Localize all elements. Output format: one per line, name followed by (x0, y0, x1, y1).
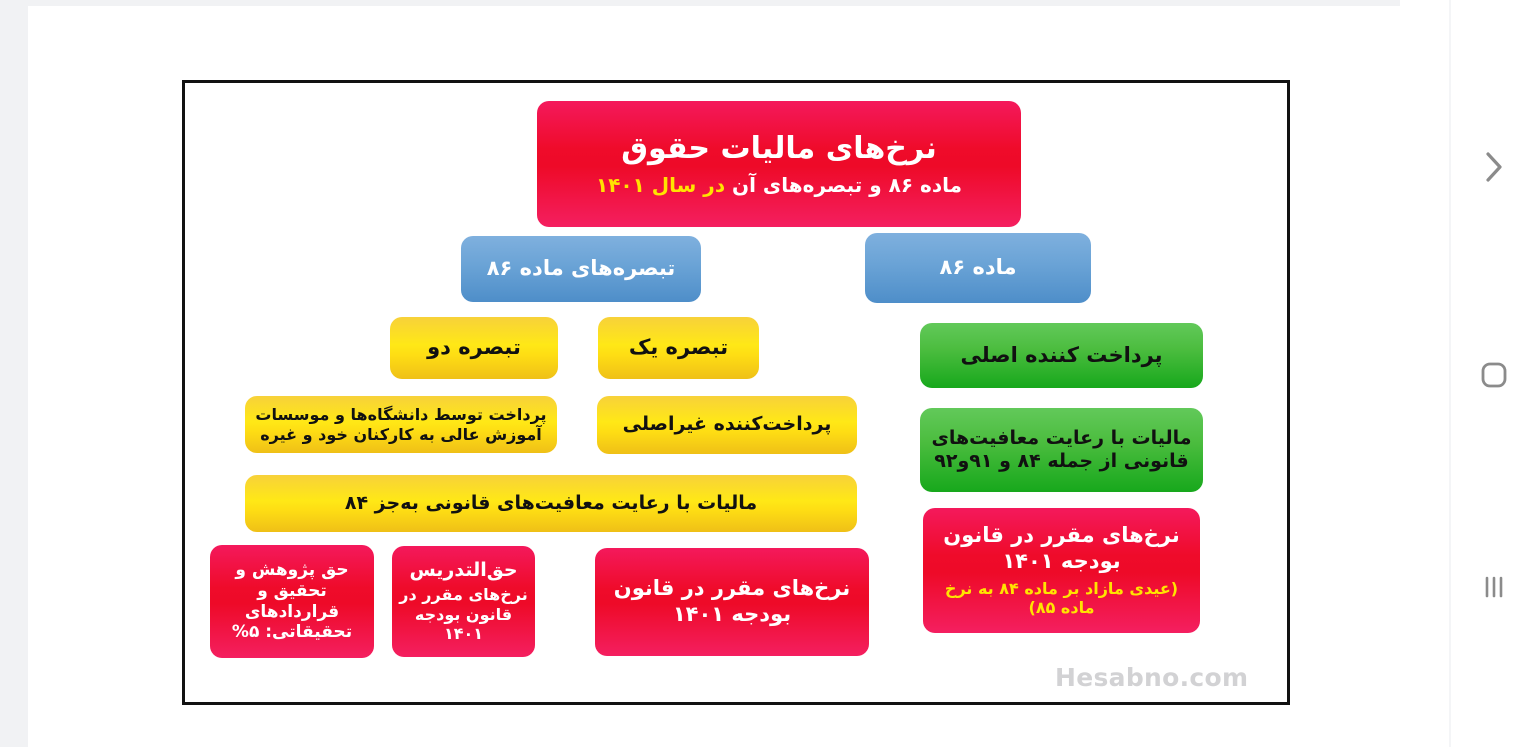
diagram-title-line2-main: ماده ۸۶ و تبصره‌های آن (725, 173, 962, 197)
left-gutter (0, 0, 28, 747)
node-budget-right-note: (عیدی مازاد بر ماده ۸۴ به نرخ ماده ۸۵) (931, 579, 1192, 618)
node-made86: ماده ۸۶ (865, 233, 1091, 303)
node-budget-law-rates-right: نرخ‌های مقرر در قانون بودجه ۱۴۰۱ (عیدی م… (923, 508, 1200, 633)
diagram-title-line2: ماده ۸۶ و تبصره‌های آن در سال ۱۴۰۱ (596, 173, 962, 197)
diagram-frame: نرخ‌های مالیات حقوق ماده ۸۶ و تبصره‌های … (182, 80, 1290, 705)
diagram-title-line1: نرخ‌های مالیات حقوق (621, 131, 937, 168)
chevron-right-icon[interactable] (1452, 140, 1536, 194)
screen: نرخ‌های مالیات حقوق ماده ۸۶ و تبصره‌های … (0, 0, 1536, 747)
node-teaching-fee-title: حق‌التدریس (409, 559, 517, 582)
diagram-title-box: نرخ‌های مالیات حقوق ماده ۸۶ و تبصره‌های … (537, 101, 1021, 227)
node-tabsare-made86: تبصره‌های ماده ۸۶ (461, 236, 701, 302)
node-teaching-fee-sub: نرخ‌های مقرر در قانون بودجه ۱۴۰۱ (398, 585, 529, 644)
node-budget-law-rates: نرخ‌های مقرر در قانون بودجه ۱۴۰۱ (595, 548, 869, 656)
content-nav-divider (1449, 0, 1451, 747)
node-non-main-payer: پرداخت‌کننده غیراصلی (597, 396, 857, 454)
node-research-contracts: حق پژوهش و تحقیق و قراردادهای تحقیقاتی: … (210, 545, 374, 658)
node-main-payer: پرداخت کننده اصلی (920, 323, 1203, 388)
node-tax-with-exemptions-green: مالیات با رعایت معافیت‌های قانونی از جمل… (920, 408, 1203, 492)
diagram-title-line2-accent: در سال ۱۴۰۱ (596, 173, 725, 197)
node-budget-right-title: نرخ‌های مقرر در قانون بودجه ۱۴۰۱ (931, 523, 1192, 574)
node-teaching-fee: حق‌التدریس نرخ‌های مقرر در قانون بودجه ۱… (392, 546, 535, 657)
node-tabsare-one: تبصره یک (598, 317, 759, 379)
top-status-bar (28, 0, 1400, 6)
rounded-square-icon[interactable] (1452, 348, 1536, 402)
node-tax-except-84: مالیات با رعایت معافیت‌های قانونی به‌جز … (245, 475, 857, 532)
three-bars-icon[interactable] (1452, 560, 1536, 614)
watermark: Hesabno.com (1055, 663, 1255, 692)
node-tabsare-two: تبصره دو (390, 317, 558, 379)
node-university-payment: پرداخت توسط دانشگاه‌ها و موسسات آموزش عا… (245, 396, 557, 453)
system-navigation-bar (1452, 0, 1536, 747)
